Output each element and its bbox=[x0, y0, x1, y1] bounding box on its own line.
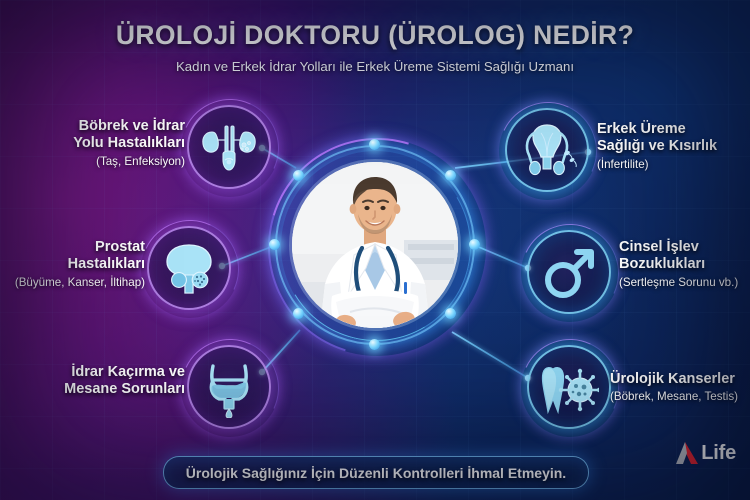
central-hub bbox=[275, 145, 475, 345]
label-line-2: Sağlığı ve Kısırlık bbox=[597, 138, 717, 155]
label-sexual-dysfunction: Cinsel İşlev Bozuklukları (Sertleşme Sor… bbox=[619, 239, 738, 290]
label-line-1: Erkek Üreme bbox=[597, 121, 717, 138]
male-gender-symbol-icon bbox=[539, 241, 599, 303]
label-line-1: Böbrek ve İdrar bbox=[73, 118, 185, 135]
logo-wordmark: Life bbox=[701, 442, 736, 465]
label-line-1: Ürolojik Kanserler bbox=[610, 371, 738, 388]
doctor-portrait bbox=[292, 162, 458, 328]
label-detail: (İnfertilite) bbox=[597, 158, 717, 172]
poster-header: ÜROLOJİ DOKTORU (ÜROLOG) NEDİR? Kadın ve… bbox=[0, 22, 750, 74]
page-subtitle: Kadın ve Erkek İdrar Yolları ile Erkek Ü… bbox=[0, 59, 750, 74]
page-title: ÜROLOJİ DOKTORU (ÜROLOG) NEDİR? bbox=[0, 22, 750, 50]
icon-bubble-urologic-cancers[interactable] bbox=[527, 345, 611, 429]
label-line-1: İdrar Kaçırma ve bbox=[64, 364, 185, 381]
label-male-fertility: Erkek Üreme Sağlığı ve Kısırlık (İnferti… bbox=[597, 121, 717, 172]
cancer-ribbon-cell-icon bbox=[539, 356, 599, 418]
label-line-2: Hastalıkları bbox=[15, 256, 145, 273]
infographic-poster: ÜROLOJİ DOKTORU (ÜROLOG) NEDİR? Kadın ve… bbox=[0, 0, 750, 500]
label-kidney-disease: Böbrek ve İdrar Yolu Hastalıkları (Taş, … bbox=[73, 118, 185, 169]
icon-bubble-kidneys[interactable] bbox=[187, 105, 271, 189]
male-reproductive-system-icon bbox=[517, 119, 577, 181]
hub-node-lower-left bbox=[293, 308, 304, 319]
hub-node-top bbox=[369, 139, 380, 150]
label-detail: (Sertleşme Sorunu vb.) bbox=[619, 276, 738, 290]
label-line-1: Cinsel İşlev bbox=[619, 239, 738, 256]
kidneys-bladder-stones-icon bbox=[199, 116, 259, 178]
label-detail: (Taş, Enfeksiyon) bbox=[73, 155, 185, 169]
label-detail: (Böbrek, Mesane, Testis) bbox=[610, 390, 738, 404]
icon-bubble-prostate[interactable] bbox=[147, 226, 231, 310]
footer-cta-banner: Ürolojik Sağlığınız İçin Düzenli Kontrol… bbox=[163, 456, 589, 489]
hub-node-left bbox=[269, 239, 280, 250]
prostate-icon bbox=[159, 237, 219, 299]
hub-node-upper-right bbox=[445, 170, 456, 181]
a-triangle-logo-mark bbox=[674, 441, 700, 465]
brand-logo[interactable]: Life bbox=[674, 441, 736, 465]
label-line-2: Mesane Sorunları bbox=[64, 381, 185, 398]
label-prostate-disease: Prostat Hastalıkları (Büyüme, Kanser, İl… bbox=[15, 239, 145, 290]
icon-bubble-male-reproductive[interactable] bbox=[505, 108, 589, 192]
label-line-1: Prostat bbox=[15, 239, 145, 256]
bladder-drop-icon bbox=[199, 356, 259, 418]
hub-node-right bbox=[469, 239, 480, 250]
label-line-2: Yolu Hastalıkları bbox=[73, 135, 185, 152]
label-detail: (Büyüme, Kanser, İltihap) bbox=[15, 276, 145, 290]
label-incontinence: İdrar Kaçırma ve Mesane Sorunları bbox=[64, 364, 185, 399]
icon-bubble-sexual-function[interactable] bbox=[527, 230, 611, 314]
footer-cta-text: Ürolojik Sağlığınız İçin Düzenli Kontrol… bbox=[186, 465, 566, 481]
label-line-2: Bozuklukları bbox=[619, 256, 738, 273]
hub-node-bottom bbox=[369, 339, 380, 350]
icon-bubble-bladder[interactable] bbox=[187, 345, 271, 429]
hub-node-upper-left bbox=[293, 170, 304, 181]
label-urologic-cancers: Ürolojik Kanserler (Böbrek, Mesane, Test… bbox=[610, 371, 738, 405]
hub-node-lower-right bbox=[445, 308, 456, 319]
